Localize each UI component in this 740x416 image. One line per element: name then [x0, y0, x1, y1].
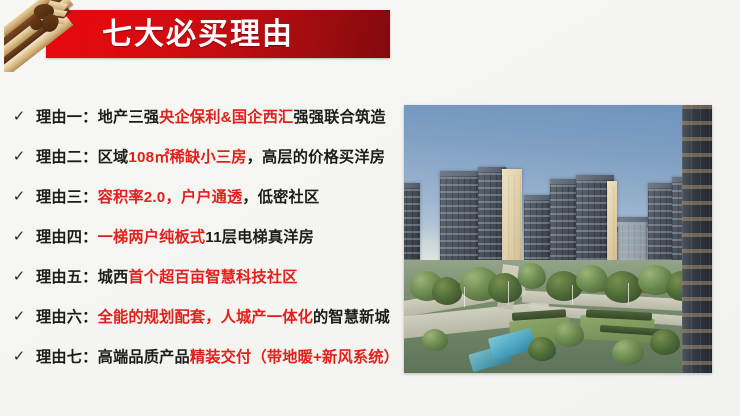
tree	[528, 337, 556, 361]
reason-text: 理由六：全能的规划配套，人城产一体化的智慧新城	[36, 305, 390, 327]
tree	[554, 321, 584, 347]
reason-plain: 强强联合筑造	[293, 109, 385, 126]
reason-row: ✓理由五：城西首个超百亩智慧科技社区	[0, 256, 404, 296]
reason-label: 理由六：	[36, 309, 98, 326]
reason-text: 理由四：一梯两户纯板式11层电梯真洋房	[36, 225, 314, 247]
checkmark-icon: ✓	[8, 109, 30, 124]
reason-highlight: 一梯两户纯板式	[98, 229, 206, 246]
tree	[650, 329, 680, 355]
tree	[422, 329, 448, 351]
reason-label: 理由五：	[36, 269, 98, 286]
reason-highlight: 首个超百亩智慧科技社区	[128, 269, 297, 286]
tree	[518, 263, 546, 289]
checkmark-icon: ✓	[8, 309, 30, 324]
tree	[488, 273, 522, 303]
tree	[612, 339, 644, 365]
page-title: 七大必买理由	[102, 12, 382, 58]
reason-plain: 城西	[98, 269, 129, 286]
tree	[604, 271, 642, 303]
checkmark-icon: ✓	[8, 149, 30, 164]
gold-ribbon-icon	[4, 0, 76, 72]
reason-plain: 的智慧新城	[313, 309, 390, 326]
lamp-post	[628, 283, 629, 305]
reason-highlight: 全能的规划配套，人城产一体化	[98, 309, 313, 326]
reason-row: ✓理由六：全能的规划配套，人城产一体化的智慧新城	[0, 296, 404, 336]
reason-plain: ，高层的价格买洋房	[247, 149, 386, 166]
title-banner: 七大必买理由	[46, 10, 390, 58]
checkmark-icon: ✓	[8, 189, 30, 204]
reason-text: 理由七：高端品质产品精装交付（带地暖+新风系统）	[36, 345, 399, 367]
reason-plain: 11层电梯真洋房	[205, 229, 314, 246]
reason-highlight: 央企保利&国企西汇	[159, 109, 293, 126]
reason-row: ✓理由四：一梯两户纯板式11层电梯真洋房	[0, 216, 404, 256]
reason-list: ✓理由一：地产三强央企保利&国企西汇强强联合筑造✓理由二：区域108㎡稀缺小三房…	[0, 96, 404, 376]
checkmark-icon: ✓	[8, 229, 30, 244]
reason-plain: ，低密社区	[242, 189, 319, 206]
lamp-post	[508, 281, 509, 305]
reason-highlight: 精装交付（带地暖+新风系统）	[190, 349, 399, 366]
reason-label: 理由二：	[36, 149, 98, 166]
reason-label: 理由三：	[36, 189, 98, 206]
reason-label: 理由七：	[36, 349, 98, 366]
reason-plain: 地产三强	[98, 109, 160, 126]
lamp-post	[464, 287, 465, 307]
reason-row: ✓理由七：高端品质产品精装交付（带地暖+新风系统）	[0, 336, 404, 376]
lamp-post	[572, 285, 573, 305]
reason-row: ✓理由三：容积率2.0，户户通透，低密社区	[0, 176, 404, 216]
apartment-tower-facade	[607, 181, 617, 273]
reason-text: 理由二：区域108㎡稀缺小三房，高层的价格买洋房	[36, 145, 385, 167]
tree	[432, 277, 462, 305]
reason-highlight: 108㎡稀缺小三房	[128, 149, 246, 166]
reason-plain: 高端品质产品	[98, 349, 190, 366]
reason-text: 理由一：地产三强央企保利&国企西汇强强联合筑造	[36, 105, 386, 127]
reason-row: ✓理由二：区域108㎡稀缺小三房，高层的价格买洋房	[0, 136, 404, 176]
reason-text: 理由五：城西首个超百亩智慧科技社区	[36, 265, 298, 287]
reason-plain: 区域	[98, 149, 129, 166]
reason-text: 理由三：容积率2.0，户户通透，低密社区	[36, 185, 319, 207]
foreground-building	[682, 105, 712, 373]
reason-label: 理由一：	[36, 109, 98, 126]
reason-row: ✓理由一：地产三强央企保利&国企西汇强强联合筑造	[0, 96, 404, 136]
checkmark-icon: ✓	[8, 269, 30, 284]
checkmark-icon: ✓	[8, 349, 30, 364]
residential-complex-rendering-image	[404, 105, 712, 373]
reason-highlight: 容积率2.0，户户通透	[98, 189, 243, 206]
reason-label: 理由四：	[36, 229, 98, 246]
slide-canvas: 七大必买理由 ✓理由一：地产三强央企保利&国企西汇强强联合筑造✓理由二：区域10…	[0, 0, 740, 416]
